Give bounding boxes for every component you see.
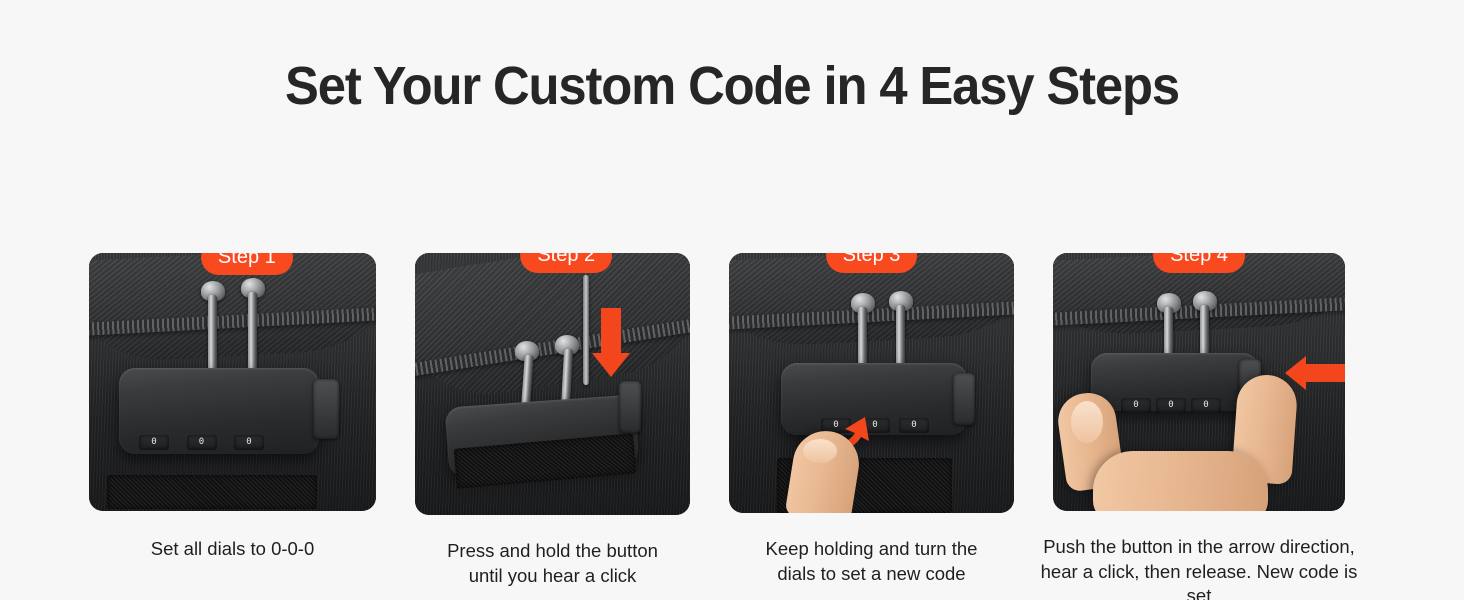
arrow-left-icon <box>1305 364 1345 382</box>
arrow-left-icon <box>1285 356 1306 390</box>
dial-value: 0 <box>199 438 204 447</box>
dial-1[interactable]: 0 <box>139 435 169 450</box>
dial-2[interactable]: 0 <box>1156 398 1186 413</box>
steps-row: 0 0 0 Step 1 Set all dials to 0-0-0 <box>89 253 1345 600</box>
step-item-1: 0 0 0 Step 1 Set all dials to 0-0-0 <box>89 253 376 562</box>
step-item-3: 0 0 0 Step 3 Keep holding and turn the d… <box>729 253 1014 586</box>
dial-1[interactable]: 0 <box>1121 398 1151 413</box>
step-image-1: 0 0 0 Step 1 <box>89 253 376 511</box>
dial-3[interactable]: 0 <box>234 435 264 450</box>
arrow-down-icon <box>592 353 630 377</box>
dial-value: 0 <box>911 421 916 430</box>
dial-group-1[interactable]: 0 0 0 <box>139 435 264 450</box>
lock-side-button[interactable] <box>619 381 641 433</box>
step-item-4: 0 0 0 Step 4 Push the button in the arro… <box>1053 253 1345 600</box>
step-badge-1: Step 1 <box>201 253 293 275</box>
dial-2[interactable]: 0 <box>187 435 217 450</box>
step-caption-2: Press and hold the button until you hear… <box>394 539 710 588</box>
step-caption-1: Set all dials to 0-0-0 <box>67 537 397 562</box>
step-caption-4: Push the button in the arrow direction, … <box>1031 535 1367 600</box>
dial-3[interactable]: 0 <box>1191 398 1221 413</box>
velcro-strip <box>107 475 317 509</box>
reset-pin-icon <box>583 275 589 385</box>
dial-value: 0 <box>1168 401 1173 410</box>
dial-value: 0 <box>246 438 251 447</box>
arrow-down-icon <box>601 308 621 356</box>
palm <box>1093 451 1268 511</box>
page-title: Set Your Custom Code in 4 Easy Steps <box>44 58 1420 115</box>
step-image-4: 0 0 0 Step 4 <box>1053 253 1345 511</box>
lock-side-button[interactable] <box>313 379 339 439</box>
step-image-3: 0 0 0 Step 3 <box>729 253 1014 513</box>
step-badge-2: Step 2 <box>520 253 612 273</box>
fingernail <box>803 439 837 463</box>
dial-value: 0 <box>151 438 156 447</box>
lock-side-button[interactable] <box>953 373 975 425</box>
dial-3[interactable]: 0 <box>899 418 929 433</box>
dial-value: 0 <box>1133 401 1138 410</box>
step-caption-3: Keep holding and turn the dials to set a… <box>708 537 1036 586</box>
step-item-2: Step 2 Press and hold the button until y… <box>415 253 690 588</box>
thumbnail-icon <box>1071 401 1103 443</box>
step-badge-4: Step 4 <box>1153 253 1245 273</box>
dial-group-4[interactable]: 0 0 0 <box>1121 398 1221 413</box>
dial-value: 0 <box>1203 401 1208 410</box>
step-image-2: Step 2 <box>415 253 690 515</box>
step-badge-3: Step 3 <box>826 253 918 273</box>
